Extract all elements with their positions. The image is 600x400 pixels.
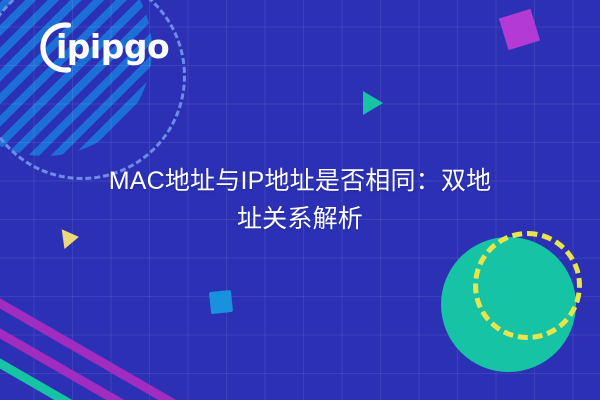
ipipgo-logo-svg: ipipgo: [28, 16, 178, 78]
logo-wordmark: ipipgo: [56, 27, 169, 66]
light-blue-square-decoration: [209, 290, 233, 314]
article-cover-banner: ipipgo MAC地址与IP地址是否相同：双地 址关系解析: [0, 0, 600, 400]
page-title: MAC地址与IP地址是否相同：双地 址关系解析: [50, 162, 550, 238]
page-title-line-1: MAC地址与IP地址是否相同：双地: [50, 162, 550, 200]
page-title-line-2: 址关系解析: [50, 200, 550, 238]
purple-diamond-decoration: [499, 9, 540, 50]
yellow-dashed-ring-decoration: [473, 231, 582, 340]
teal-play-triangle-icon: [363, 91, 383, 115]
ipipgo-logo: ipipgo: [28, 16, 178, 78]
